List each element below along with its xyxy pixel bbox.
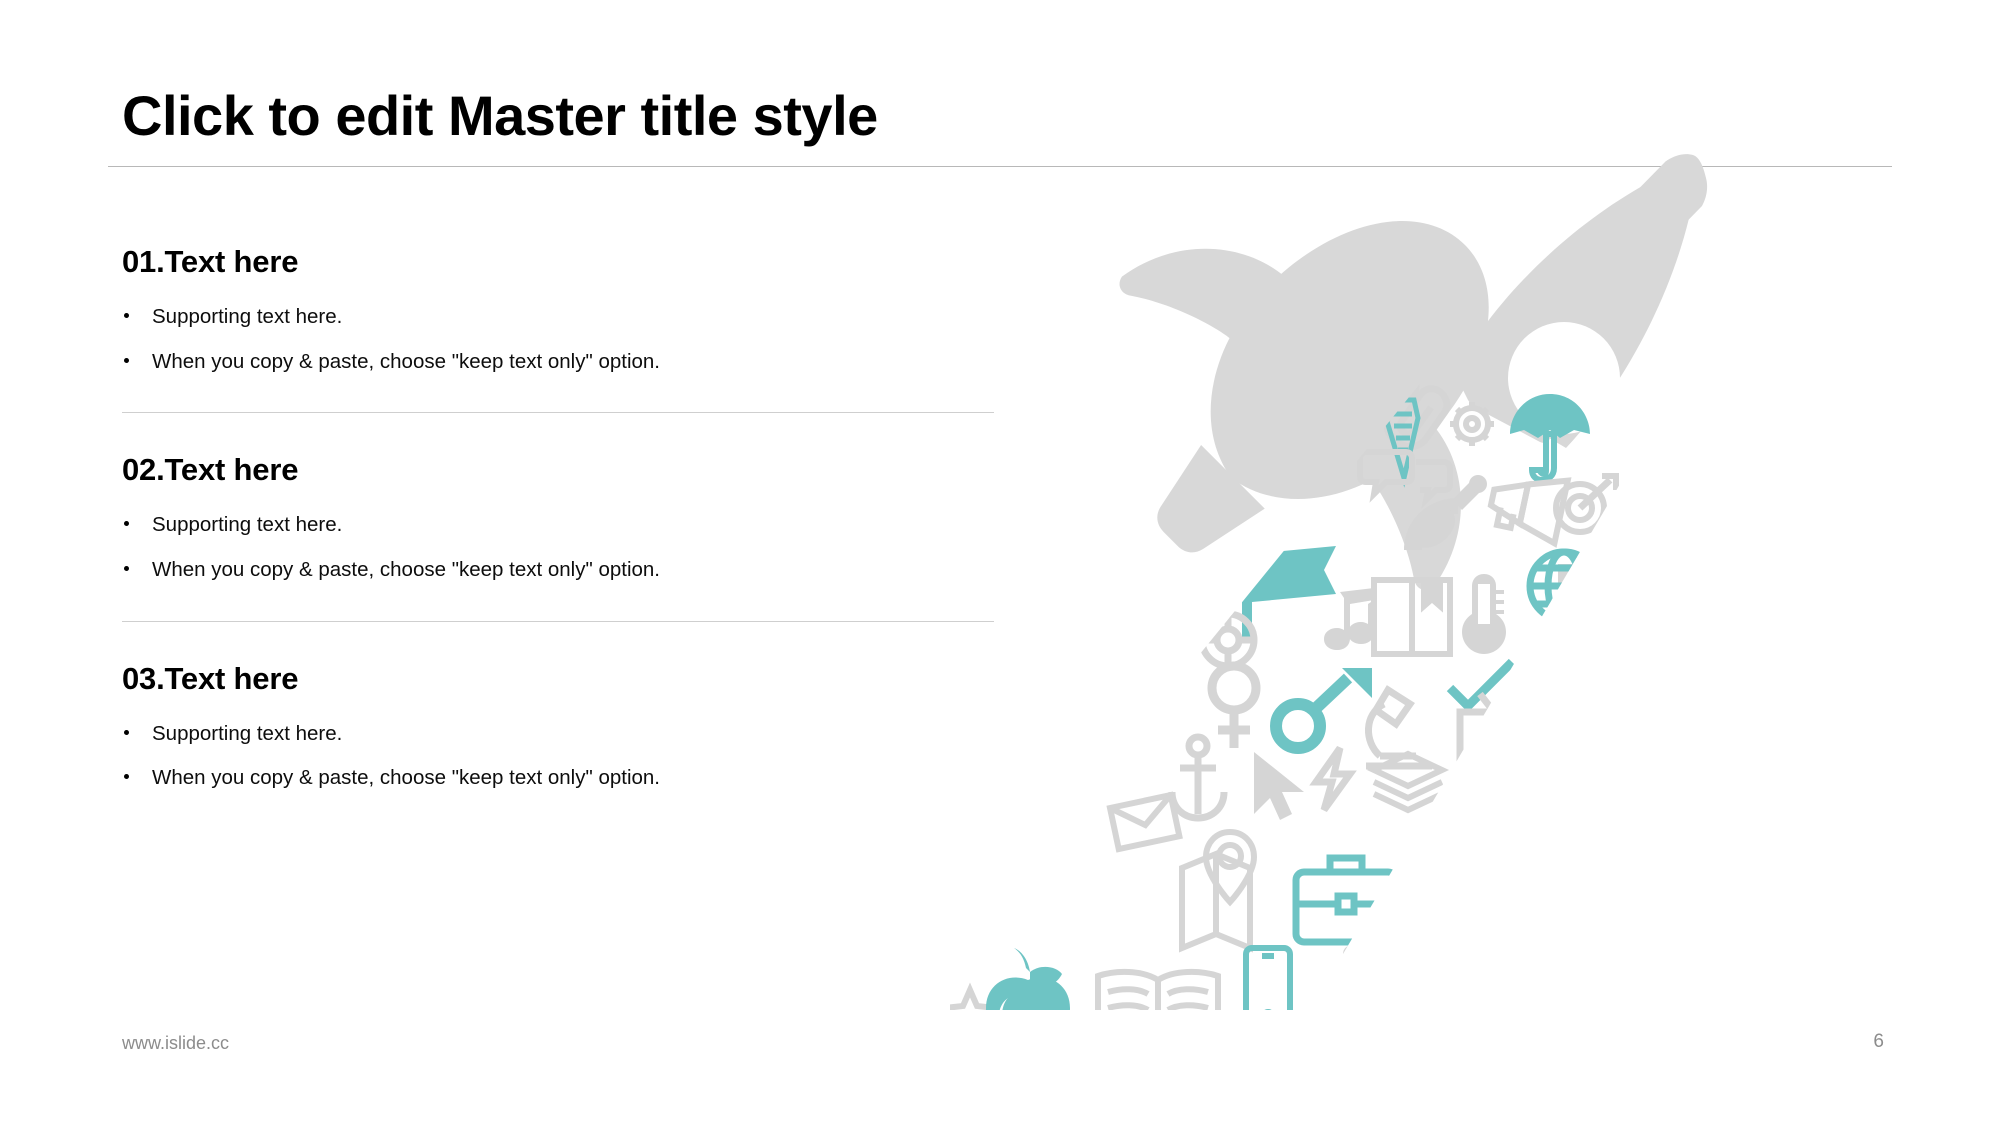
bullet-dot-icon [124, 566, 129, 571]
list-item[interactable]: When you copy & paste, choose "keep text… [122, 349, 1002, 375]
section-heading-03[interactable]: 03.Text here [122, 662, 1002, 696]
list-item[interactable]: Supporting text here. [122, 512, 1002, 538]
bookmark-book-icon [1374, 580, 1450, 654]
bullet-text: Supporting text here. [152, 722, 342, 745]
pencil-icon [1068, 637, 1160, 734]
umbrella-icon [1510, 394, 1590, 480]
bullet-text: Supporting text here. [152, 305, 342, 328]
youtube-icon: You Tube [1648, 751, 1696, 796]
smartphone-icon [1246, 948, 1290, 1026]
title-block: Click to edit Master title style [122, 86, 1892, 146]
cursor-arrow-icon [1254, 752, 1304, 820]
headphones-icon [1654, 1008, 1734, 1050]
section-divider-2 [122, 621, 994, 622]
content-column: 01.Text here Supporting text here. When … [122, 245, 1002, 791]
clock-watch-icon [1563, 604, 1613, 678]
section-heading-01[interactable]: 01.Text here [122, 245, 1002, 279]
section-divider-1 [122, 412, 994, 413]
female-symbol-icon [1212, 666, 1256, 748]
bullet-dot-icon [124, 313, 129, 318]
bullet-text: When you copy & paste, choose "keep text… [152, 766, 660, 789]
bullet-dot-icon [124, 521, 129, 526]
crown-icon [1398, 998, 1486, 1050]
page-title[interactable]: Click to edit Master title style [122, 86, 1892, 146]
magnifier-icon [1532, 700, 1600, 768]
section-01: 01.Text here Supporting text here. When … [122, 245, 1002, 374]
list-item[interactable]: When you copy & paste, choose "keep text… [122, 557, 1002, 583]
map-pin-icon [1182, 854, 1250, 948]
slide-canvas: Click to edit Master title style 01.Text… [0, 0, 2000, 1125]
male-symbol-icon [1276, 678, 1348, 748]
apple-icon [986, 948, 1070, 1050]
heart-icon [1465, 751, 1527, 810]
eye-icon [1482, 888, 1570, 932]
speech-bubble-icon [1734, 986, 1790, 1042]
usb-icon [1543, 754, 1598, 851]
list-item[interactable]: When you copy & paste, choose "keep text… [122, 765, 1002, 791]
footer-url[interactable]: www.islide.cc [122, 1033, 229, 1054]
twitter-icon [950, 777, 953, 825]
flag-icon [1242, 546, 1336, 642]
list-item[interactable]: Supporting text here. [122, 721, 1002, 747]
bullet-list-01: Supporting text here. When you copy & pa… [122, 304, 1002, 374]
list-item[interactable]: Supporting text here. [122, 304, 1002, 330]
chat-dots-icon [1606, 926, 1686, 1004]
bullet-list-02: Supporting text here. When you copy & pa… [122, 512, 1002, 582]
lifebuoy-icon [1202, 614, 1254, 666]
bullet-text: When you copy & paste, choose "keep text… [152, 350, 660, 373]
wifi-tower-icon [1561, 872, 1631, 954]
globe-icon [1530, 552, 1598, 620]
thermometer-icon [1462, 574, 1506, 654]
lightning-icon [1316, 748, 1350, 810]
microscope-icon [1366, 690, 1432, 766]
tablet-icon [1346, 948, 1396, 1020]
bullet-dot-icon [124, 730, 129, 735]
pinterest-icon [1640, 606, 1690, 666]
rocket-illustration: You Tube [950, 150, 1950, 1050]
bullet-text: Supporting text here. [152, 513, 342, 536]
section-02: 02.Text here Supporting text here. When … [122, 453, 1002, 582]
bullet-text: When you copy & paste, choose "keep text… [152, 558, 660, 581]
anchor-icon [1172, 737, 1224, 818]
section-03: 03.Text here Supporting text here. When … [122, 662, 1002, 791]
bullet-dot-icon [124, 358, 129, 363]
open-book-icon [1098, 972, 1218, 1050]
svg-text:Tube: Tube [1653, 777, 1688, 794]
layers-icon [1374, 754, 1442, 810]
section-heading-02[interactable]: 02.Text here [122, 453, 1002, 487]
tumblr-icon [1528, 998, 1574, 1050]
envelope-icon [1110, 795, 1179, 849]
facebook-icon [1558, 1038, 1626, 1050]
bullet-dot-icon [124, 774, 129, 779]
phone-icon [1425, 866, 1455, 954]
calculator-icon [1692, 870, 1754, 954]
music-note-icon [1324, 588, 1374, 650]
bullet-list-03: Supporting text here. When you copy & pa… [122, 721, 1002, 791]
briefcase-icon [1296, 858, 1396, 942]
svg-text:You: You [1648, 751, 1684, 773]
puzzle-icon [1558, 552, 1628, 632]
